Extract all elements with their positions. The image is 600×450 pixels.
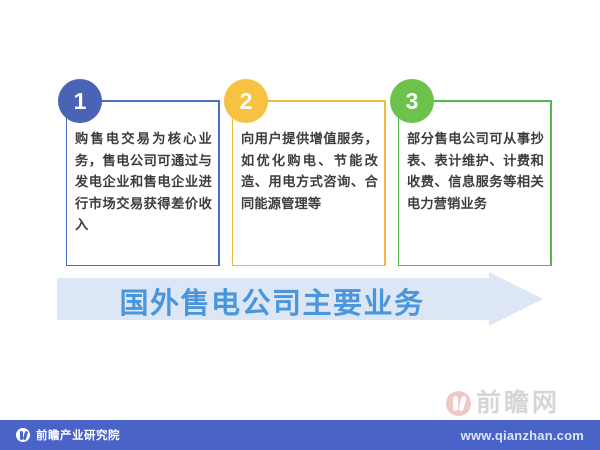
step-card-2-top-rail [266,100,386,102]
step-number-badge-2: 2 [224,79,268,123]
step-card-1-top-rail [100,100,220,102]
watermark: 前瞻网 [446,391,560,416]
qianzhan-logo-icon [446,391,471,416]
footer-bar: 前瞻产业研究院 www.qianzhan.com [0,420,600,450]
footer-url-label[interactable]: www.qianzhan.com [461,428,584,443]
step-card-3-right-rail [550,100,552,266]
step-card-3-text: 部分售电公司可从事抄表、表计维护、计费和收费、信息服务等相关电力营销业务 [407,128,544,214]
step-card-3: 部分售电公司可从事抄表、表计维护、计费和收费、信息服务等相关电力营销业务 [398,100,552,266]
step-number-badge-1: 1 [58,79,102,123]
watermark-text: 前瞻网 [476,391,560,416]
step-card-2-text: 向用户提供增值服务，如优化购电、节能改造、用电方式咨询、合同能源管理等 [241,128,378,214]
step-card-1-right-rail [218,100,220,266]
step-card-3-top-rail [432,100,552,102]
step-card-1-text: 购售电交易为核心业务，售电公司可通过与发电企业和售电企业进行市场交易获得差价收入 [75,128,212,236]
step-number-badge-3: 3 [390,79,434,123]
qianzhan-logo-icon [16,428,30,442]
footer-brand-group: 前瞻产业研究院 [16,427,120,443]
step-card-2: 向用户提供增值服务，如优化购电、节能改造、用电方式咨询、合同能源管理等 [232,100,386,266]
footer-brand-label: 前瞻产业研究院 [36,427,120,443]
step-card-1: 购售电交易为核心业务，售电公司可通过与发电企业和售电企业进行市场交易获得差价收入 [66,100,220,266]
step-card-2-right-rail [384,100,386,266]
infographic-canvas: 购售电交易为核心业务，售电公司可通过与发电企业和售电企业进行市场交易获得差价收入… [0,0,600,450]
infographic-title: 国外售电公司主要业务 [57,281,487,321]
